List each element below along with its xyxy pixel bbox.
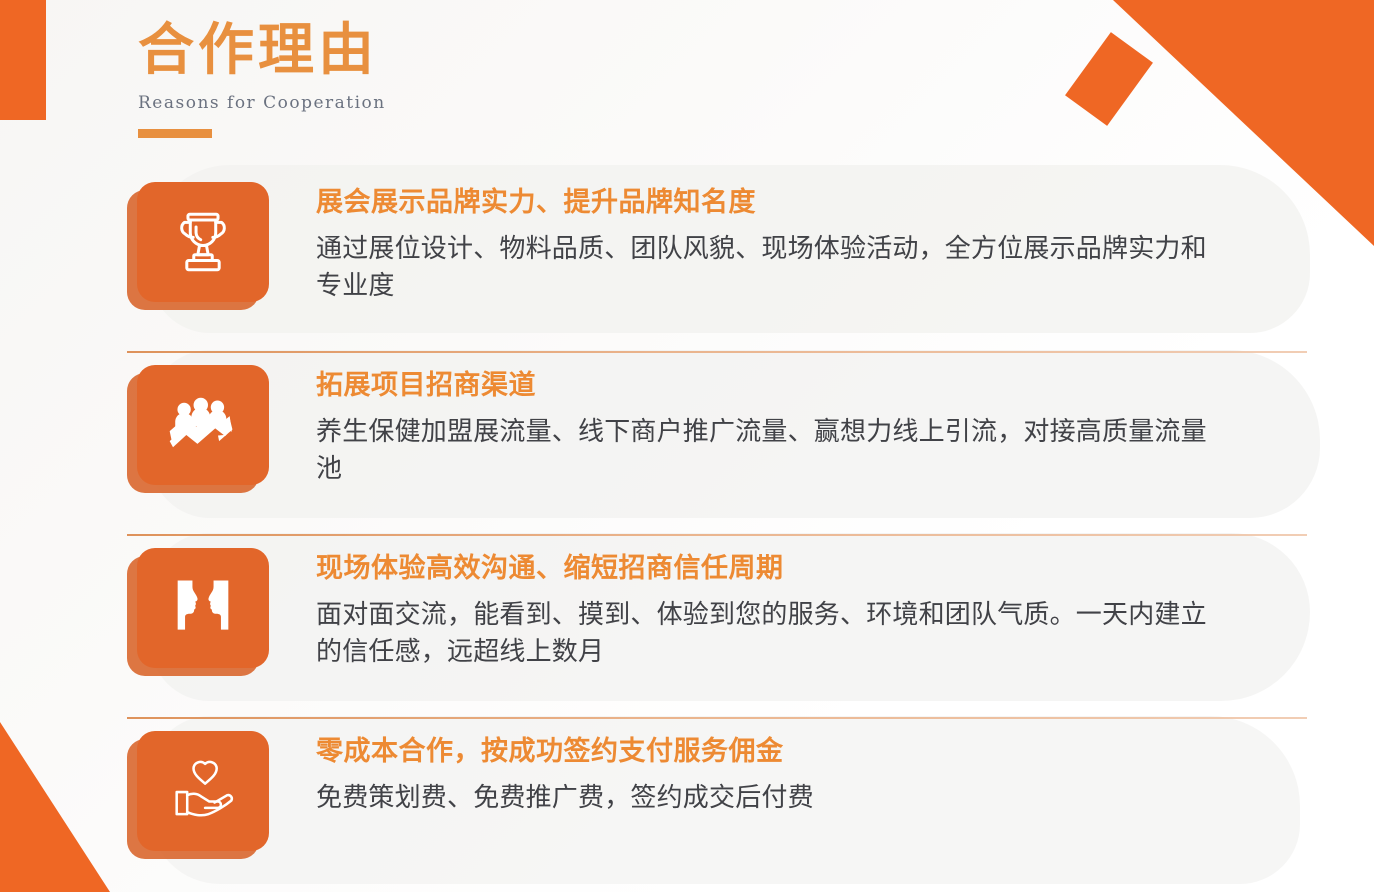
face-to-face-icon [165, 570, 241, 646]
page-subtitle: Reasons for Cooperation [138, 93, 386, 113]
card-text: 现场体验高效沟通、缩短招商信任周期 面对面交流，能看到、摸到、体验到您的服务、环… [269, 536, 1209, 671]
icon-tile [137, 182, 269, 302]
card-icon-wrapper [127, 365, 269, 493]
card-description: 养生保健加盟展流量、线下商户推广流量、赢想力线上引流，对接高质量流量池 [316, 414, 1209, 488]
card-title: 展会展示品牌实力、提升品牌知名度 [316, 186, 1209, 220]
card-title: 拓展项目招商渠道 [316, 369, 1209, 403]
card-icon-wrapper [127, 548, 269, 676]
list-item[interactable]: 拓展项目招商渠道 养生保健加盟展流量、线下商户推广流量、赢想力线上引流，对接高质… [0, 353, 1374, 536]
growth-people-icon [163, 385, 243, 465]
card-text: 展会展示品牌实力、提升品牌知名度 通过展位设计、物料品质、团队风貌、现场体验活动… [269, 170, 1209, 305]
card-text: 零成本合作，按成功签约支付服务佣金 免费策划费、免费推广费，签约成交后付费 [269, 719, 1209, 817]
trophy-icon [166, 205, 240, 279]
icon-tile [137, 731, 269, 851]
icon-tile [137, 365, 269, 485]
card-title: 现场体验高效沟通、缩短招商信任周期 [316, 552, 1209, 586]
card-icon-wrapper [127, 182, 269, 310]
slide-root: 合作理由 Reasons for Cooperation [0, 0, 1374, 892]
header-underline-bar [138, 129, 212, 138]
card-title: 零成本合作，按成功签约支付服务佣金 [316, 735, 1209, 769]
card-description: 免费策划费、免费推广费，签约成交后付费 [316, 780, 1209, 817]
card-description: 面对面交流，能看到、摸到、体验到您的服务、环境和团队气质。一天内建立的信任感，远… [316, 597, 1209, 671]
list-item[interactable]: 现场体验高效沟通、缩短招商信任周期 面对面交流，能看到、摸到、体验到您的服务、环… [0, 536, 1374, 719]
page-title: 合作理由 [138, 22, 386, 81]
list-item[interactable]: 零成本合作，按成功签约支付服务佣金 免费策划费、免费推广费，签约成交后付费 [0, 719, 1374, 892]
reasons-list: 展会展示品牌实力、提升品牌知名度 通过展位设计、物料品质、团队风貌、现场体验活动… [0, 170, 1374, 892]
card-text: 拓展项目招商渠道 养生保健加盟展流量、线下商户推广流量、赢想力线上引流，对接高质… [269, 353, 1209, 488]
hand-heart-icon [163, 753, 243, 829]
card-icon-wrapper [127, 731, 269, 859]
page-header: 合作理由 Reasons for Cooperation [138, 22, 386, 138]
card-description: 通过展位设计、物料品质、团队风貌、现场体验活动，全方位展示品牌实力和专业度 [316, 231, 1209, 305]
list-item[interactable]: 展会展示品牌实力、提升品牌知名度 通过展位设计、物料品质、团队风貌、现场体验活动… [0, 170, 1374, 353]
decoration-top-left-bar [0, 0, 46, 120]
icon-tile [137, 548, 269, 668]
